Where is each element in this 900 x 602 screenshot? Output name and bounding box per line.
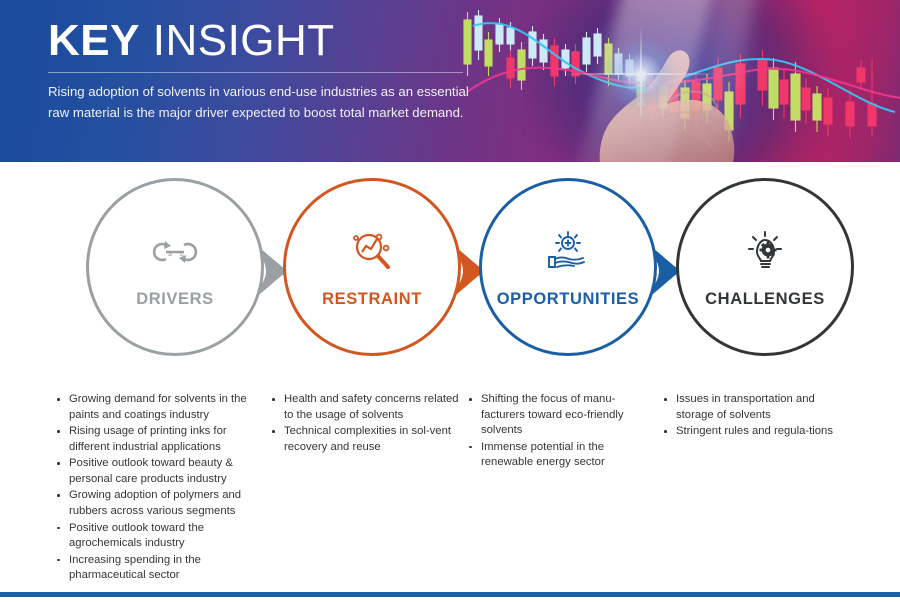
node-drivers[interactable]: $ £ DRIVERS (86, 178, 264, 356)
process-circles-row: $ £ DRIVERS R (0, 162, 900, 387)
node-restraint[interactable]: RESTRAINT (283, 178, 461, 356)
node-challenges[interactable]: CHALLENGES (676, 178, 854, 356)
node-restraint-label: RESTRAINT (267, 290, 477, 309)
title-divider (48, 72, 463, 73)
page-title: KEY INSIGHT (48, 18, 335, 64)
list-item: Growing adoption of polymers and rubbers… (55, 488, 253, 519)
bullet-columns: Growing demand for solvents in the paint… (0, 392, 900, 562)
svg-text:£: £ (180, 251, 184, 258)
list-item: Increasing spending in the pharmaceutica… (55, 553, 253, 584)
header-banner: KEY INSIGHT Rising adoption of solvents … (0, 0, 900, 162)
list-item: Issues in transportation and storage of … (662, 392, 848, 423)
node-drivers-label: DRIVERS (70, 290, 280, 309)
hand-idea-icon (539, 228, 597, 276)
list-item: Stringent rules and regula-tions (662, 424, 848, 440)
bullet-column-opportunities: Shifting the focus of manu-facturers tow… (467, 392, 653, 472)
header-subtitle: Rising adoption of solvents in various e… (48, 82, 480, 124)
list-item: Positive outlook toward beauty & persona… (55, 456, 253, 487)
footer-spacer (0, 597, 900, 602)
lightbulb-gear-icon (736, 228, 794, 276)
list-item: Positive outlook toward the agrochemical… (55, 521, 253, 552)
page-title-bold: KEY (48, 16, 140, 65)
magnifier-chart-icon (343, 228, 401, 276)
list-item: Health and safety concerns related to th… (270, 392, 460, 423)
node-opportunities[interactable]: OPPORTUNITIES (479, 178, 657, 356)
list-item: Growing demand for solvents in the paint… (55, 392, 253, 423)
page-title-light: INSIGHT (153, 16, 335, 65)
infographic-page: KEY INSIGHT Rising adoption of solvents … (0, 0, 900, 602)
bullet-column-restraint: Health and safety concerns related to th… (270, 392, 460, 456)
list-item: Rising usage of printing inks for differ… (55, 424, 253, 455)
cycle-arrows-icon: $ £ (146, 228, 204, 276)
node-opportunities-label: OPPORTUNITIES (463, 290, 673, 309)
list-item: Shifting the focus of manu-facturers tow… (467, 392, 653, 439)
bullet-column-challenges: Issues in transportation and storage of … (662, 392, 848, 441)
bullet-column-drivers: Growing demand for solvents in the paint… (55, 392, 253, 585)
svg-text:$: $ (168, 251, 172, 258)
list-item: Technical complexities in sol-vent recov… (270, 424, 460, 455)
list-item: Immense potential in the renewable energ… (467, 440, 653, 471)
node-challenges-label: CHALLENGES (660, 290, 870, 309)
